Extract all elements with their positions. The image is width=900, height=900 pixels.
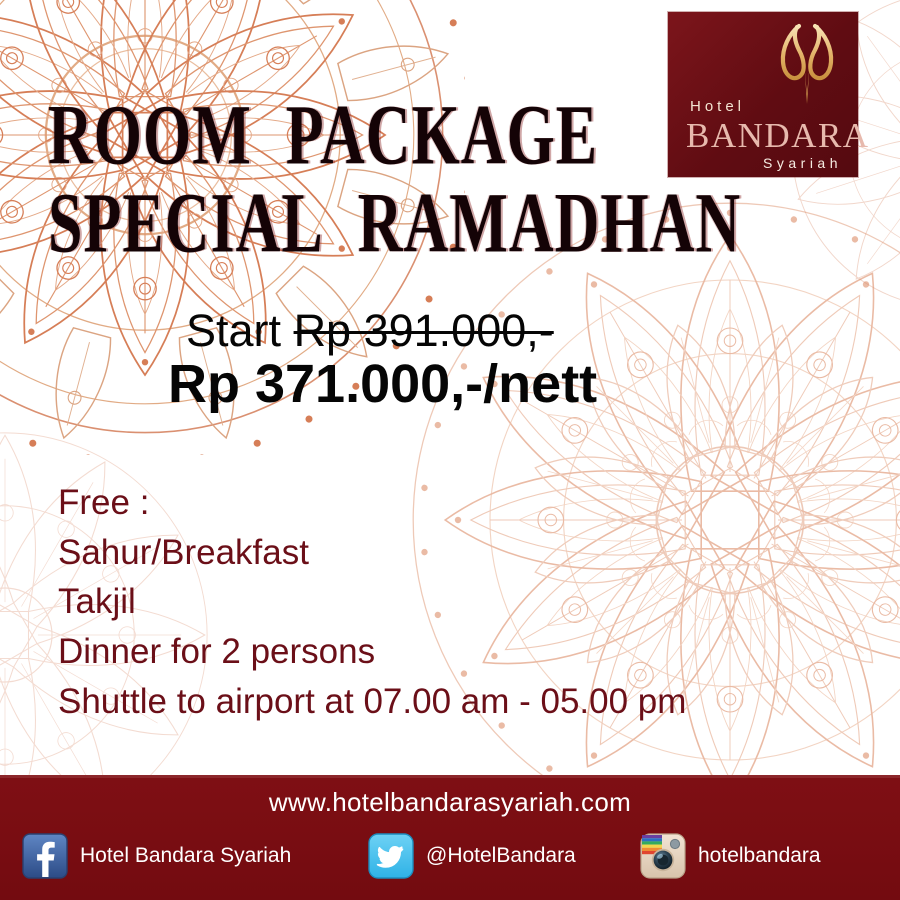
twitter-label: @HotelBandara	[426, 844, 576, 868]
instagram-icon[interactable]	[640, 833, 686, 879]
social-instagram[interactable]: hotelbandara	[640, 833, 821, 879]
feature-item: Sahur/Breakfast	[58, 528, 686, 578]
headline: ROOMPACKAGE SPECIALRAMADHAN	[48, 96, 698, 243]
social-twitter[interactable]: @HotelBandara	[368, 833, 576, 879]
twitter-icon[interactable]	[368, 833, 414, 879]
headline-line-2: SPECIALRAMADHAN	[48, 184, 698, 264]
headline-word-ramadhan: RAMADHAN	[358, 184, 741, 264]
hotel-logo: Hotel BANDARA Syariah	[668, 12, 858, 177]
features-list: Free : Sahur/Breakfast Takjil Dinner for…	[58, 478, 686, 726]
headline-word-special: SPECIAL	[48, 184, 324, 264]
website-url[interactable]: www.hotelbandarasyariah.com	[0, 787, 900, 818]
bandara-flourish-icon	[759, 18, 855, 110]
features-heading: Free :	[58, 478, 686, 528]
feature-item: Shuttle to airport at 07.00 am - 05.00 p…	[58, 677, 686, 727]
logo-sub-label: Syariah	[763, 155, 842, 171]
feature-item: Dinner for 2 persons	[58, 627, 686, 677]
price-block: Start Rp 391.000,- Rp 371.000,-/nett	[186, 308, 597, 413]
feature-item: Takjil	[58, 577, 686, 627]
footer-bar: www.hotelbandarasyariah.com Hotel Bandar…	[0, 775, 900, 900]
facebook-icon[interactable]	[22, 833, 68, 879]
facebook-label: Hotel Bandara Syariah	[80, 844, 291, 868]
price-start-label: Start	[186, 305, 281, 356]
price-old-value: Rp 391.000,-	[294, 305, 554, 356]
price-new-value: Rp 371.000,-/nett	[168, 356, 597, 413]
headline-word-package: PACKAGE	[286, 96, 598, 176]
promo-poster: ROOMPACKAGE SPECIALRAMADHAN Hotel BANDAR…	[0, 0, 900, 900]
social-facebook[interactable]: Hotel Bandara Syariah	[22, 833, 291, 879]
headline-word-room: ROOM	[48, 96, 252, 176]
instagram-label: hotelbandara	[698, 844, 821, 868]
logo-hotel-label: Hotel	[690, 98, 745, 115]
footer-divider	[0, 775, 900, 778]
price-old-row: Start Rp 391.000,-	[186, 308, 597, 354]
logo-brand-label: BANDARA	[686, 116, 870, 156]
headline-line-1: ROOMPACKAGE	[48, 96, 698, 176]
